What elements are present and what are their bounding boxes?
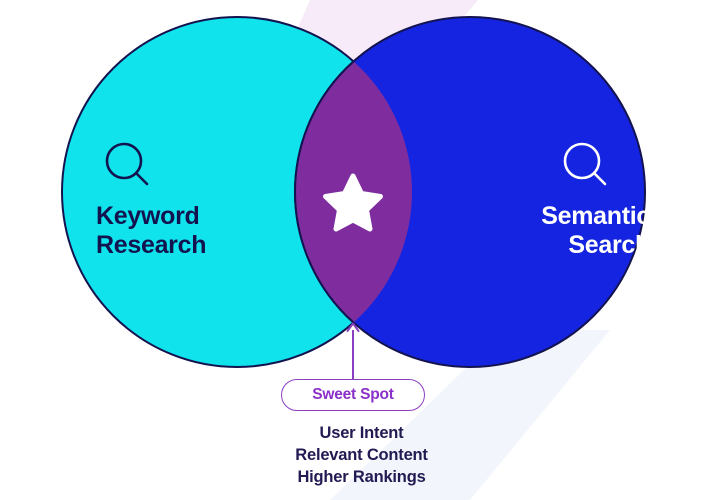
venn-diagram-canvas: Keyword Research Semantic Search Sweet S… xyxy=(0,0,723,500)
callout-connector-arrow xyxy=(348,324,359,381)
list-item: Higher Rankings xyxy=(0,467,723,489)
sweet-spot-label: Sweet Spot xyxy=(312,386,394,404)
list-item: Relevant Content xyxy=(0,445,723,467)
right-circle-label: Semantic Search xyxy=(440,202,650,260)
left-circle-label: Keyword Research xyxy=(96,202,296,260)
sweet-spot-callout[interactable]: Sweet Spot xyxy=(281,379,425,411)
benefits-list: User Intent Relevant Content Higher Rank… xyxy=(0,423,723,489)
list-item: User Intent xyxy=(0,423,723,445)
